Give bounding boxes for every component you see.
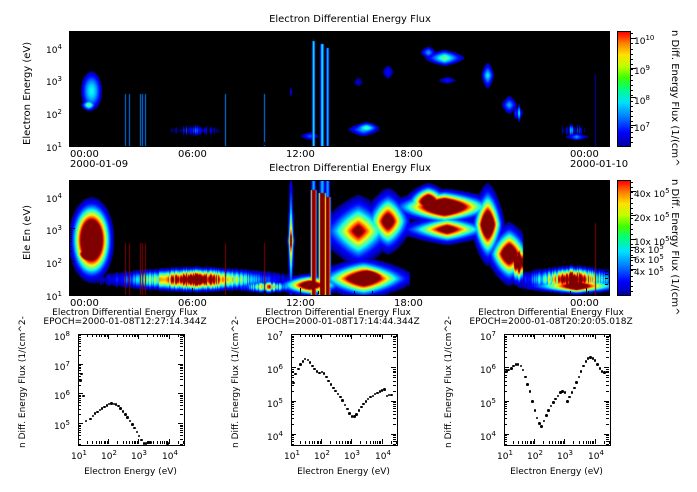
data-point: [557, 395, 560, 398]
panel2-cbar-label: n Diff. Energy Flux (1/(cm^: [669, 179, 680, 316]
data-point: [552, 401, 555, 404]
data-point: [585, 360, 588, 363]
data-point: [133, 427, 136, 430]
data-point: [596, 363, 599, 366]
data-point: [517, 363, 520, 366]
figure-root: Electron Differential Energy Flux Electr…: [0, 0, 697, 492]
data-point: [383, 388, 386, 391]
data-point: [332, 387, 335, 390]
data-point: [311, 365, 314, 368]
data-point: [362, 403, 365, 406]
subplot-2-ylabel: n Diff. Energy Flux (1/(cm^2-: [231, 316, 241, 448]
panel1-cbar-label-wrap: n Diff. Energy Flux (1/(cm^: [680, 30, 697, 41]
data-point: [529, 390, 532, 393]
panel2-cbar-tick-0: 40x 105: [634, 186, 670, 200]
data-point: [334, 390, 337, 393]
data-point: [554, 398, 557, 401]
data-point: [550, 405, 553, 408]
panel1-spectrogram: [69, 31, 610, 147]
data-point: [575, 381, 578, 384]
data-point: [603, 371, 606, 374]
data-point: [346, 408, 349, 411]
subplot-2-epoch: EPOCH=2000-01-08T17:14:44.344Z: [233, 317, 443, 327]
subplot-3-xtick-3: 104: [588, 448, 604, 462]
panel1-title: Electron Differential Energy Flux: [200, 14, 500, 25]
data-point: [337, 393, 340, 396]
data-point: [568, 396, 571, 399]
data-point: [79, 379, 82, 382]
data-point: [522, 369, 525, 372]
data-point: [341, 399, 344, 402]
panel1-xdate-right: 2000-01-10: [570, 159, 628, 170]
data-point: [292, 382, 295, 385]
subplot-1-xlabel: Electron Energy (eV): [78, 467, 183, 477]
data-point: [540, 425, 543, 428]
data-point: [360, 406, 363, 409]
subplot-2-ytick-0: 107: [267, 329, 283, 343]
data-point: [92, 415, 95, 418]
data-point: [304, 358, 307, 361]
panel1-cbar-tick-0: 1010: [634, 33, 654, 47]
subplot-3-ylabel-wrap: n Diff. Energy Flux (1/(cm^2-: [444, 448, 576, 458]
data-point: [571, 391, 574, 394]
subplot-2-ytick-3: 104: [267, 429, 283, 443]
panel1-cbar-tick-1: 109: [634, 63, 650, 77]
data-point: [536, 417, 539, 420]
data-point: [524, 376, 527, 379]
data-point: [372, 395, 375, 398]
subplot-2-xlabel: Electron Energy (eV): [291, 467, 396, 477]
subplot-3-plot-area: [504, 334, 611, 446]
panel2-cbar-tick-5: 4x 105: [634, 264, 664, 278]
data-point: [85, 420, 88, 423]
data-point: [327, 380, 330, 383]
panel2-ytick-3: 101: [46, 289, 62, 303]
data-point: [136, 431, 139, 434]
data-point: [594, 359, 597, 362]
data-point: [534, 409, 537, 412]
panel1-heatmap-canvas: [70, 32, 609, 146]
panel2-ylabel: Ele En (eV): [22, 205, 33, 260]
panel1-cbar-tick-3: 107: [634, 120, 650, 134]
data-point: [564, 391, 567, 394]
subplot-2-ylabel-wrap: n Diff. Energy Flux (1/(cm^2-: [231, 448, 363, 458]
subplot-2-plot-area: [291, 334, 398, 446]
panel2-cbar-label-wrap: n Diff. Energy Flux (1/(cm^: [680, 179, 697, 190]
panel1-ytick-1: 103: [46, 74, 62, 88]
data-point: [543, 420, 546, 423]
data-point: [580, 370, 583, 373]
data-point: [526, 383, 529, 386]
panel2-cbar-tick-1: 20x 105: [634, 210, 670, 224]
data-point: [89, 418, 92, 421]
subplot-1-ytick-3: 105: [54, 418, 70, 432]
subplot-1-ytick-2: 106: [54, 388, 70, 402]
panel1-xtick-1: 06:00: [178, 149, 207, 160]
subplot-1-xtick-3: 104: [162, 448, 178, 462]
data-point: [547, 409, 550, 412]
subplot-3-xlabel: Electron Energy (eV): [504, 467, 609, 477]
data-point: [365, 400, 368, 403]
subplot-1-plot-area: [78, 334, 185, 446]
subplot-1-ylabel: n Diff. Energy Flux (1/(cm^2-: [18, 316, 28, 448]
data-point: [531, 400, 534, 403]
subplot-3-ytick-1: 106: [480, 362, 496, 376]
data-point: [367, 398, 370, 401]
subplot-1-ylabel-wrap: n Diff. Energy Flux (1/(cm^2-: [18, 448, 150, 458]
data-point: [82, 395, 85, 398]
data-point: [573, 387, 576, 390]
data-point: [126, 416, 129, 419]
subplot-2-ytick-1: 106: [267, 362, 283, 376]
data-point: [566, 400, 569, 403]
panel1-cbar-label: n Diff. Energy Flux (1/(cm^: [669, 30, 680, 167]
data-point: [325, 376, 328, 379]
subplot-1-epoch: EPOCH=2000-01-08T12:27:14.344Z: [20, 317, 230, 327]
panel1-colorbar: [617, 31, 631, 147]
data-point: [140, 439, 143, 442]
data-point: [149, 441, 152, 444]
data-point: [358, 409, 361, 412]
data-point: [309, 361, 312, 364]
subplot-3-ytick-0: 107: [480, 329, 496, 343]
panel2-spectrogram: [69, 180, 610, 296]
data-point: [323, 372, 326, 375]
panel1-ylabel: Electron Energy (eV): [22, 42, 33, 145]
data-point: [299, 363, 302, 366]
data-point: [545, 414, 548, 417]
subplot-2-xtick-3: 104: [375, 448, 391, 462]
data-point: [344, 404, 347, 407]
data-point: [348, 412, 351, 415]
panel1-ytick-0: 104: [46, 42, 62, 56]
panel1-xtick-3: 18:00: [394, 149, 423, 160]
data-point: [294, 373, 297, 376]
subplot-2-ytick-2: 105: [267, 396, 283, 410]
panel2-colorbar: [617, 180, 631, 296]
data-point: [122, 410, 125, 413]
panel2-ytick-1: 103: [46, 223, 62, 237]
panel1-cbar-tick-2: 108: [634, 93, 650, 107]
subplot-3-ytick-2: 105: [480, 396, 496, 410]
panel1-ytick-2: 102: [46, 107, 62, 121]
subplot-3-ytick-3: 104: [480, 429, 496, 443]
panel2-heatmap-canvas: [70, 181, 609, 295]
panel1-xdate-left: 2000-01-09: [70, 159, 128, 170]
data-point: [355, 413, 358, 416]
data-point: [302, 360, 305, 363]
data-point: [599, 367, 602, 370]
data-point: [578, 376, 581, 379]
subplot-3-epoch: EPOCH=2000-01-08T20:20:05.018Z: [446, 317, 656, 327]
subplot-1-ytick-1: 107: [54, 359, 70, 373]
panel1-xtick-2: 12:00: [286, 149, 315, 160]
data-point: [520, 365, 523, 368]
data-point: [339, 396, 342, 399]
data-point: [131, 423, 134, 426]
data-point: [96, 411, 99, 414]
data-point: [353, 415, 356, 418]
data-point: [330, 383, 333, 386]
data-point: [129, 420, 132, 423]
panel2-title: Electron Differential Energy Flux: [200, 163, 500, 174]
data-point: [297, 368, 300, 371]
data-point: [80, 373, 83, 376]
data-point: [138, 435, 141, 438]
data-point: [390, 394, 393, 397]
subplot-1-ytick-0: 108: [54, 329, 70, 343]
data-point: [166, 442, 169, 445]
panel2-ytick-0: 104: [46, 191, 62, 205]
data-point: [510, 367, 513, 370]
data-point: [582, 365, 585, 368]
subplot-3-ylabel: n Diff. Energy Flux (1/(cm^2-: [444, 316, 454, 448]
